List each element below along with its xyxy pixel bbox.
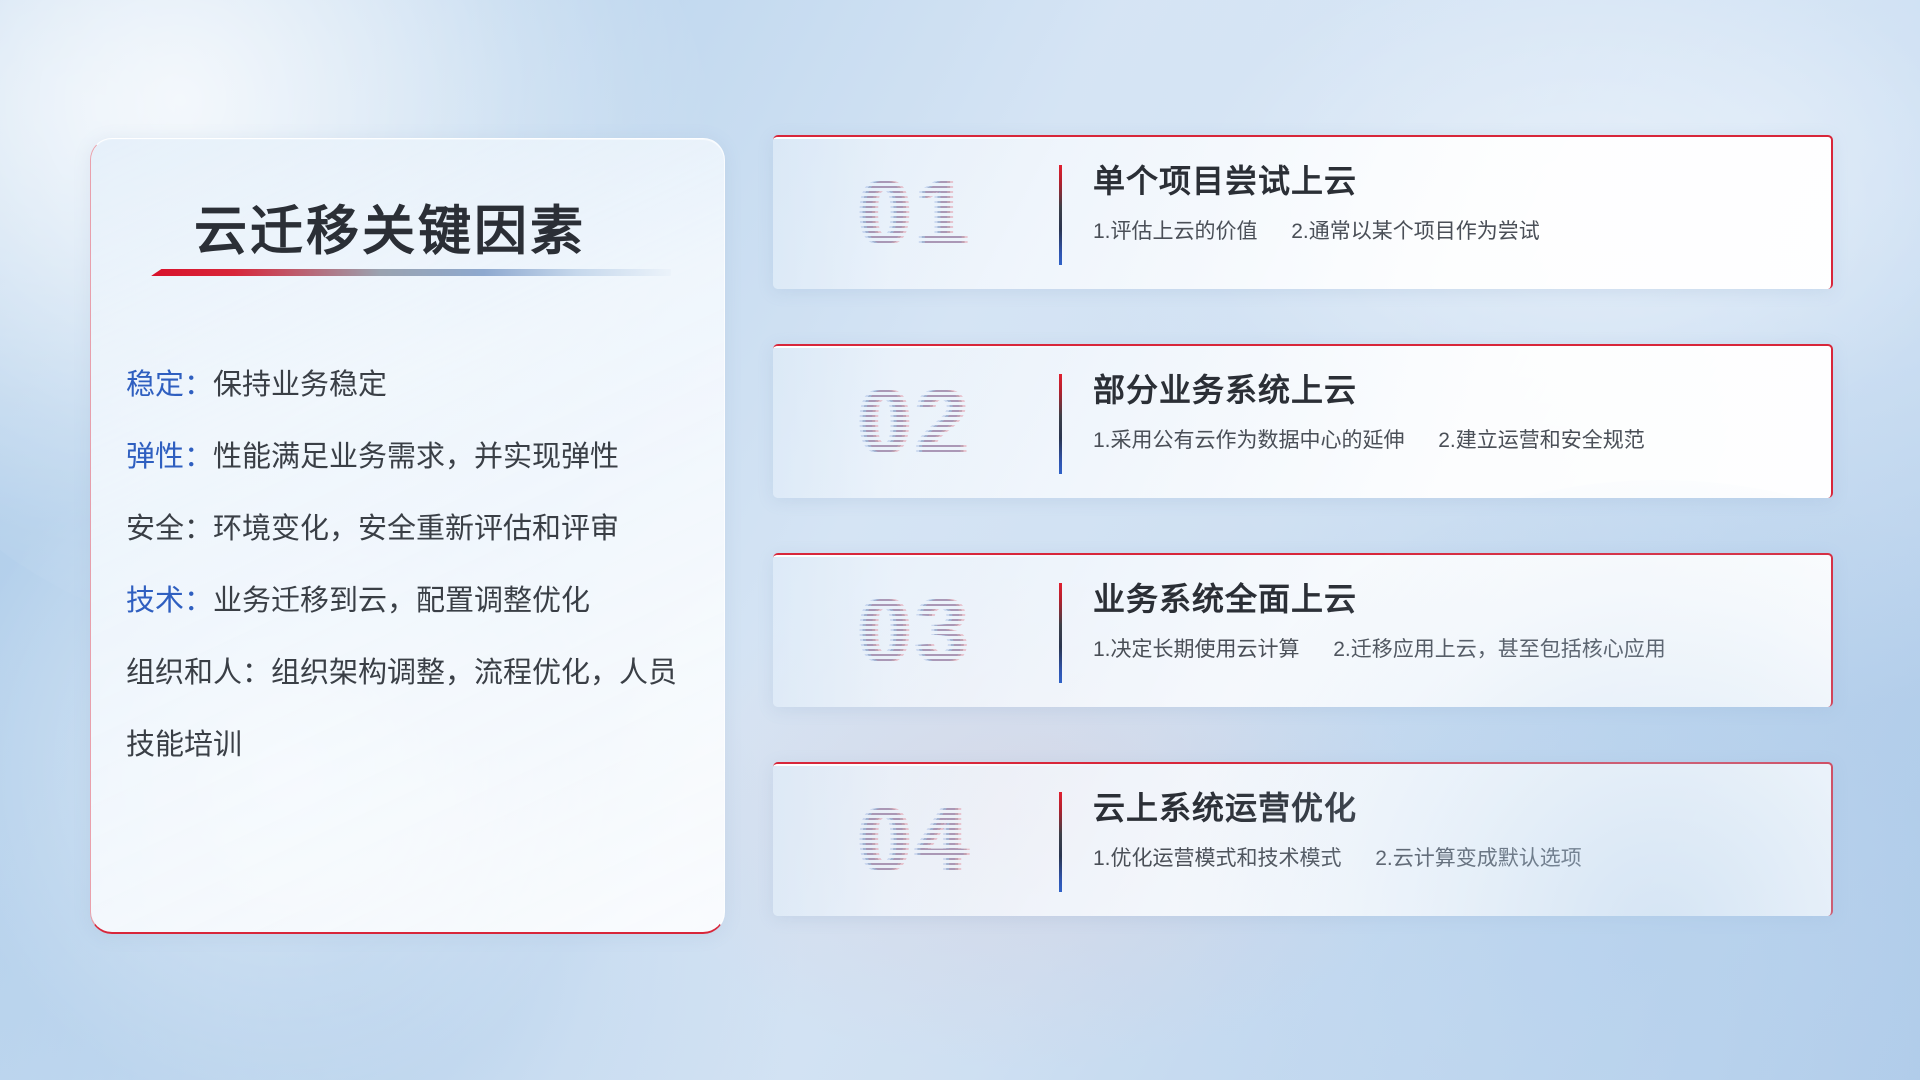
stage-description: 1.采用公有云作为数据中心的延伸 2.建立运营和安全规范 xyxy=(1093,426,1807,456)
stage-description-part-2: 2.迁移应用上云，甚至包括核心应用 xyxy=(1333,638,1666,661)
stage-description-part-2: 2.建立运营和安全规范 xyxy=(1438,429,1645,452)
stage-card-02[interactable]: 02 02 02 部分业务系统上云 1.采用公有云作为数据中心的延伸 2.建立运… xyxy=(773,344,1833,498)
factor-label: 弹性： xyxy=(126,441,213,473)
stage-body: 部分业务系统上云 1.采用公有云作为数据中心的延伸 2.建立运营和安全规范 xyxy=(1093,368,1807,456)
factor-value: 环境变化，安全重新评估和评审 xyxy=(213,513,619,545)
stage-description: 1.优化运营模式和技术模式 2.云计算变成默认选项 xyxy=(1093,844,1807,874)
title-underline-rule xyxy=(151,269,671,276)
stage-description-part-1: 1.决定长期使用云计算 xyxy=(1093,638,1300,661)
key-factors-panel: 云迁移关键因素 稳定：保持业务稳定 弹性：性能满足业务需求，并实现弹性 安全：环… xyxy=(90,138,725,934)
stage-card-04[interactable]: 04 04 04 云上系统运营优化 1.优化运营模式和技术模式 2.云计算变成默… xyxy=(773,762,1833,916)
factor-label: 组织和人： xyxy=(126,657,271,689)
list-item: 弹性：性能满足业务需求，并实现弹性 xyxy=(126,421,706,493)
stage-title: 部分业务系统上云 xyxy=(1093,368,1807,412)
factor-label: 技术： xyxy=(126,585,213,617)
migration-stages-list: 01 01 01 单个项目尝试上云 1.评估上云的价值 2.通常以某个项目作为尝… xyxy=(773,135,1833,971)
page-title: 云迁移关键因素 xyxy=(194,189,586,265)
stage-body: 云上系统运营优化 1.优化运营模式和技术模式 2.云计算变成默认选项 xyxy=(1093,786,1807,874)
stage-number-watermark: 02 02 02 xyxy=(801,362,1031,482)
stage-description-part-2: 2.通常以某个项目作为尝试 xyxy=(1291,220,1540,243)
slide-canvas: 云迁移关键因素 稳定：保持业务稳定 弹性：性能满足业务需求，并实现弹性 安全：环… xyxy=(0,0,1920,1080)
stage-title: 业务系统全面上云 xyxy=(1093,577,1807,621)
stage-number-watermark: 04 04 04 xyxy=(801,780,1031,900)
stage-title: 云上系统运营优化 xyxy=(1093,786,1807,830)
stage-number-ghost-blue: 03 xyxy=(798,571,1028,691)
factor-label: 稳定： xyxy=(126,369,213,401)
factor-label: 安全： xyxy=(126,513,213,545)
card-top-border-fade xyxy=(773,344,1133,348)
stage-accent-divider xyxy=(1059,792,1062,892)
stage-description-part-1: 1.采用公有云作为数据中心的延伸 xyxy=(1093,429,1405,452)
factor-value: 保持业务稳定 xyxy=(213,369,387,401)
stage-description-part-1: 1.评估上云的价值 xyxy=(1093,220,1258,243)
stage-number-watermark: 03 03 03 xyxy=(801,571,1031,691)
stage-number-watermark: 01 01 01 xyxy=(801,153,1031,273)
factor-value: 性能满足业务需求，并实现弹性 xyxy=(213,441,619,473)
stage-accent-divider xyxy=(1059,374,1062,474)
stage-body: 单个项目尝试上云 1.评估上云的价值 2.通常以某个项目作为尝试 xyxy=(1093,159,1807,247)
stage-body: 业务系统全面上云 1.决定长期使用云计算 2.迁移应用上云，甚至包括核心应用 xyxy=(1093,577,1807,665)
list-item: 技术：业务迁移到云，配置调整优化 xyxy=(126,565,706,637)
stage-number-ghost-blue: 02 xyxy=(798,362,1028,482)
stage-description-part-2: 2.云计算变成默认选项 xyxy=(1375,847,1582,870)
stage-number-ghost-blue: 04 xyxy=(798,780,1028,900)
stage-card-01[interactable]: 01 01 01 单个项目尝试上云 1.评估上云的价值 2.通常以某个项目作为尝… xyxy=(773,135,1833,289)
card-top-border-fade xyxy=(773,762,1133,766)
stage-card-03[interactable]: 03 03 03 业务系统全面上云 1.决定长期使用云计算 2.迁移应用上云，甚… xyxy=(773,553,1833,707)
factor-list: 稳定：保持业务稳定 弹性：性能满足业务需求，并实现弹性 安全：环境变化，安全重新… xyxy=(126,349,706,781)
stage-description: 1.决定长期使用云计算 2.迁移应用上云，甚至包括核心应用 xyxy=(1093,635,1807,665)
stage-number-ghost-blue: 01 xyxy=(798,153,1028,273)
stage-accent-divider xyxy=(1059,165,1062,265)
card-top-border-fade xyxy=(773,135,1133,139)
list-item: 组织和人：组织架构调整，流程优化，人员技能培训 xyxy=(126,637,706,781)
factor-value: 业务迁移到云，配置调整优化 xyxy=(213,585,590,617)
card-top-border-fade xyxy=(773,553,1133,557)
stage-title: 单个项目尝试上云 xyxy=(1093,159,1807,203)
stage-description: 1.评估上云的价值 2.通常以某个项目作为尝试 xyxy=(1093,217,1807,247)
stage-description-part-1: 1.优化运营模式和技术模式 xyxy=(1093,847,1342,870)
list-item: 稳定：保持业务稳定 xyxy=(126,349,706,421)
list-item: 安全：环境变化，安全重新评估和评审 xyxy=(126,493,706,565)
stage-accent-divider xyxy=(1059,583,1062,683)
